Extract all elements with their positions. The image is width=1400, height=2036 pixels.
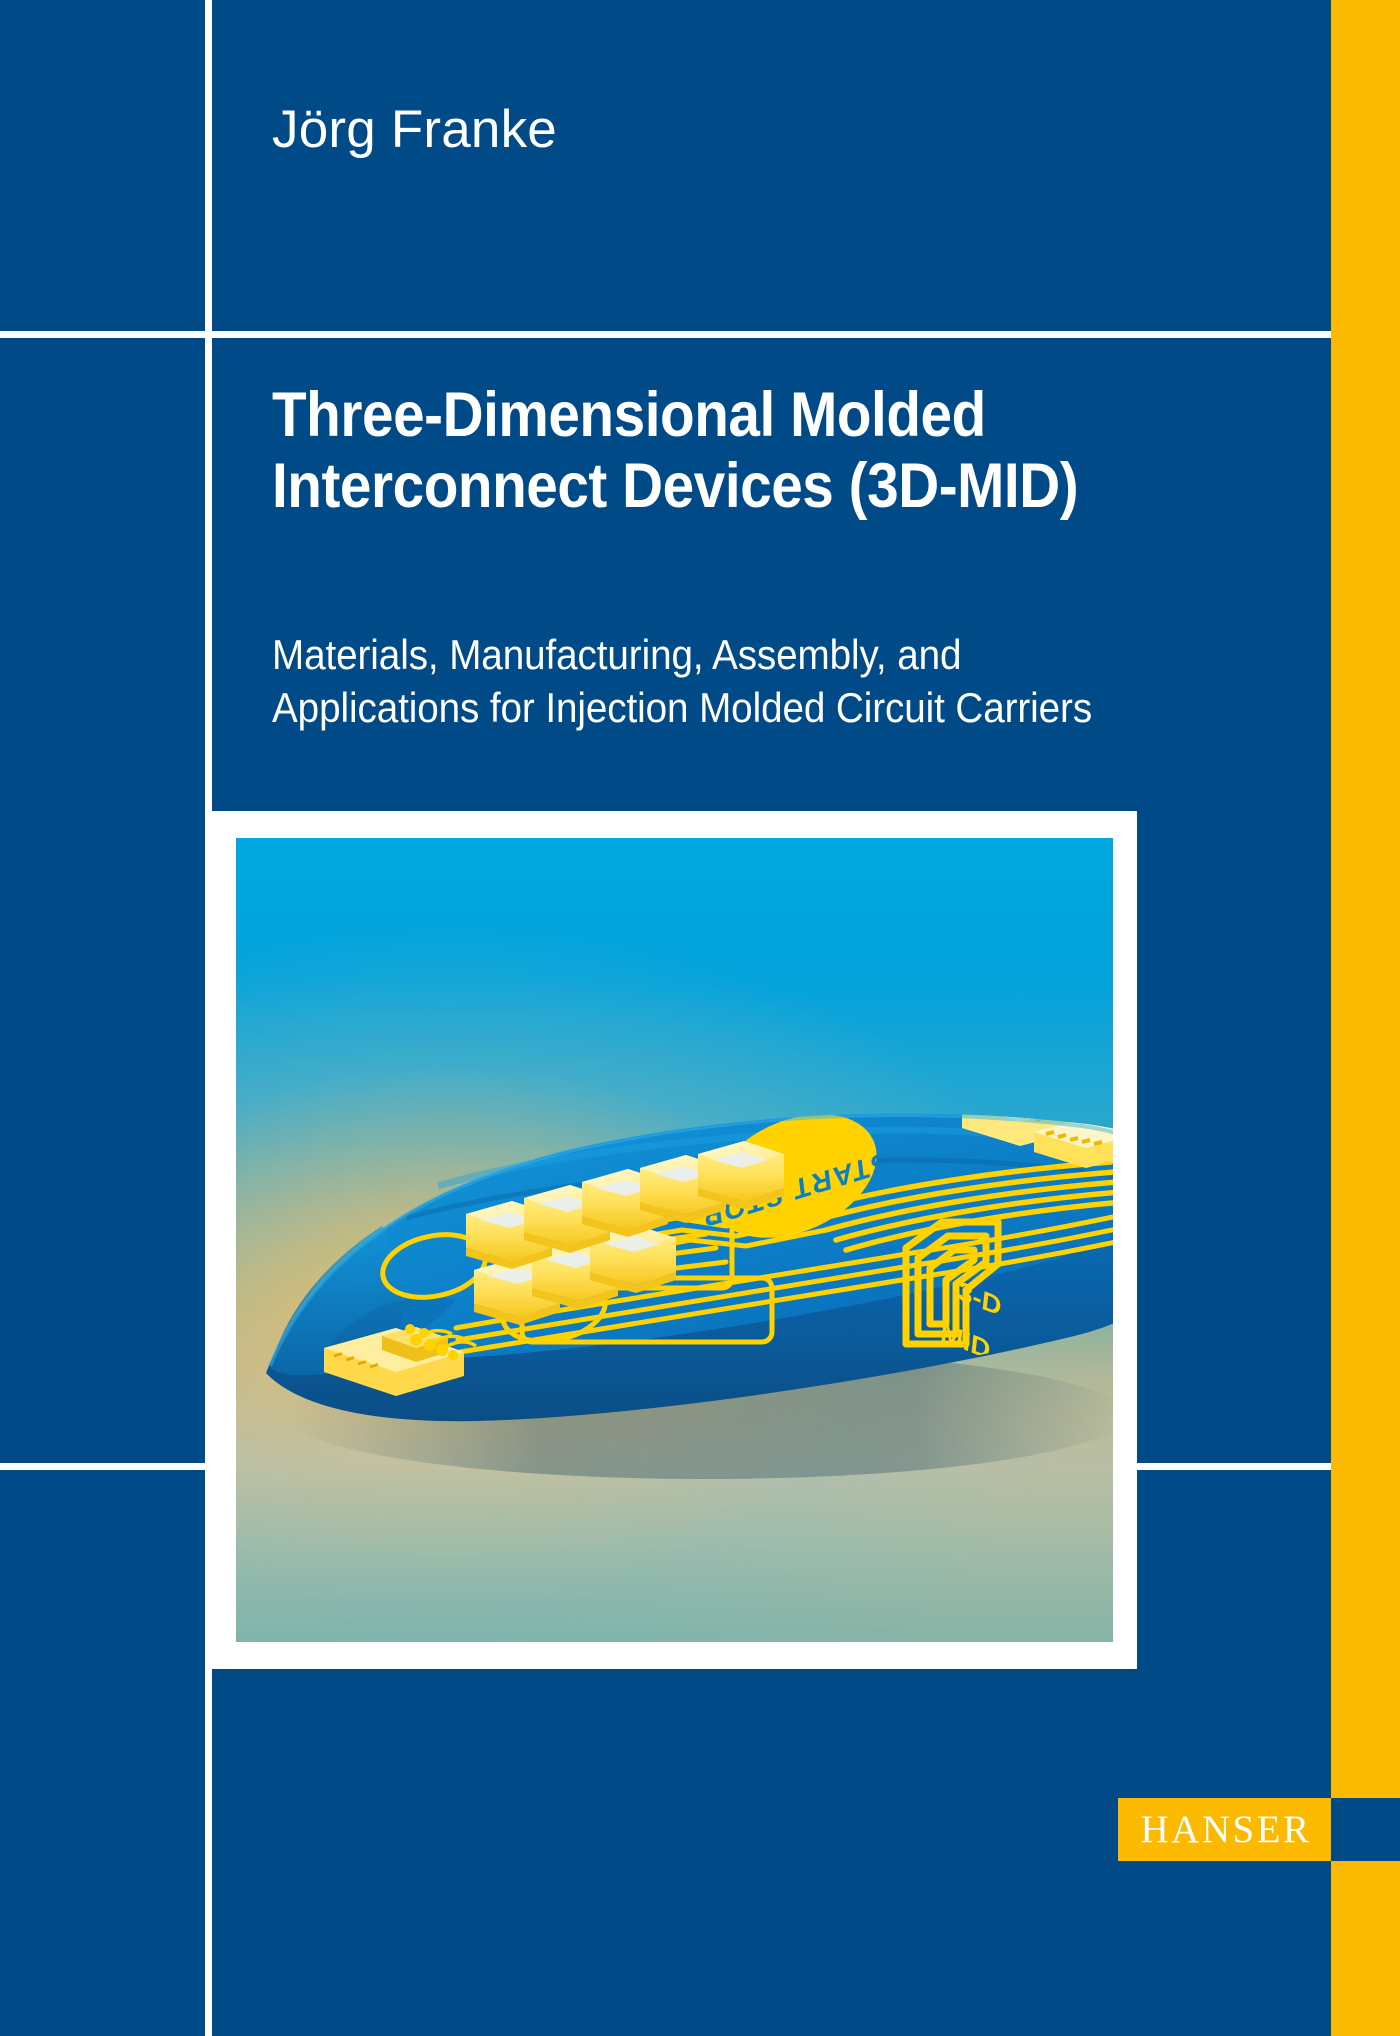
publisher-name: HANSER [1137, 1810, 1311, 1849]
author-name: Jörg Franke [272, 99, 557, 160]
grid-rule-vertical-bottom [205, 1463, 212, 2036]
book-title: Three-Dimensional Molded Interconnect De… [272, 380, 1292, 521]
subtitle-line-2: Applications for Injection Molded Circui… [272, 682, 1210, 735]
book-subtitle: Materials, Manufacturing, Assembly, and … [272, 629, 1292, 734]
right-yellow-stripe [1331, 0, 1400, 2036]
publisher-logo: HANSER [1118, 1798, 1331, 1861]
cover-artwork: START STOP 3-D [236, 838, 1113, 1642]
book-cover: Jörg Franke Three-Dimensional Molded Int… [0, 0, 1400, 2036]
title-line-2: Interconnect Devices (3D-MID) [272, 451, 1190, 522]
mid-car-illustration: START STOP 3-D [236, 918, 1113, 1518]
subtitle-line-1: Materials, Manufacturing, Assembly, and [272, 629, 1210, 682]
stripe-notch [1331, 1798, 1400, 1861]
grid-rule-horizontal-top [0, 331, 1331, 338]
title-line-1: Three-Dimensional Molded [272, 380, 1190, 451]
